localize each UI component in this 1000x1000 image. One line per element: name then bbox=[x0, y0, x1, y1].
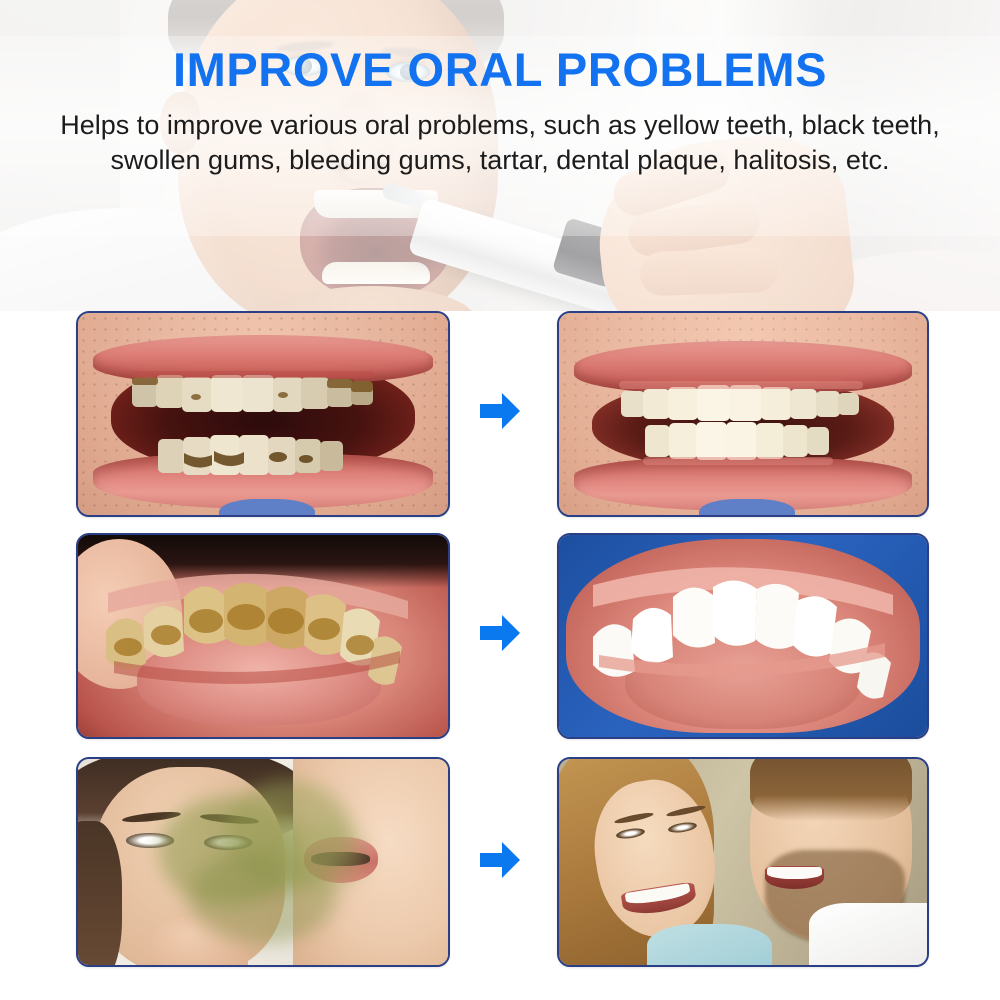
man-smile bbox=[765, 866, 824, 889]
man-shirt bbox=[809, 903, 929, 967]
bad-breath-cloud-4 bbox=[270, 821, 366, 891]
happy-couple-photo bbox=[559, 759, 927, 965]
comparison-3-after bbox=[557, 757, 929, 967]
clean-teeth-overlay bbox=[559, 535, 927, 737]
hero-banner: IMPROVE ORAL PROBLEMS Helps to improve v… bbox=[0, 0, 1000, 311]
right-arrow-icon-1 bbox=[478, 389, 522, 433]
woman-hair-side bbox=[76, 821, 122, 967]
comparison-3-before bbox=[76, 757, 450, 967]
hero-text-block: IMPROVE ORAL PROBLEMS Helps to improve v… bbox=[0, 0, 1000, 311]
stained-teeth-photo bbox=[78, 313, 448, 515]
bad-breath-photo bbox=[78, 759, 448, 965]
dentist-glove bbox=[699, 499, 795, 517]
man-hair-front bbox=[750, 757, 912, 821]
lower-teeth-row bbox=[645, 422, 829, 460]
dentist-glove bbox=[219, 499, 315, 517]
comparison-1-after bbox=[557, 311, 929, 517]
tartar-arch-photo bbox=[78, 535, 448, 737]
right-arrow-icon-3 bbox=[478, 838, 522, 882]
teeth-overlay bbox=[78, 313, 448, 515]
gum-line bbox=[132, 371, 374, 378]
clean-arch-photo bbox=[559, 535, 927, 737]
right-arrow-icon-2 bbox=[478, 611, 522, 655]
comparison-2-before bbox=[76, 533, 450, 739]
clean-teeth-photo bbox=[559, 313, 927, 515]
comparison-1-before bbox=[76, 311, 450, 517]
comparison-2-after bbox=[557, 533, 929, 739]
man-white-teeth bbox=[767, 867, 821, 879]
page-subtitle: Helps to improve various oral problems, … bbox=[58, 108, 942, 178]
woman-top bbox=[647, 924, 772, 967]
page-title: IMPROVE ORAL PROBLEMS bbox=[0, 46, 1000, 93]
teeth-overlay bbox=[559, 313, 927, 515]
upper-teeth-row bbox=[621, 385, 859, 421]
tartar-teeth-overlay bbox=[78, 535, 448, 737]
promo-page: IMPROVE ORAL PROBLEMS Helps to improve v… bbox=[0, 0, 1000, 1000]
